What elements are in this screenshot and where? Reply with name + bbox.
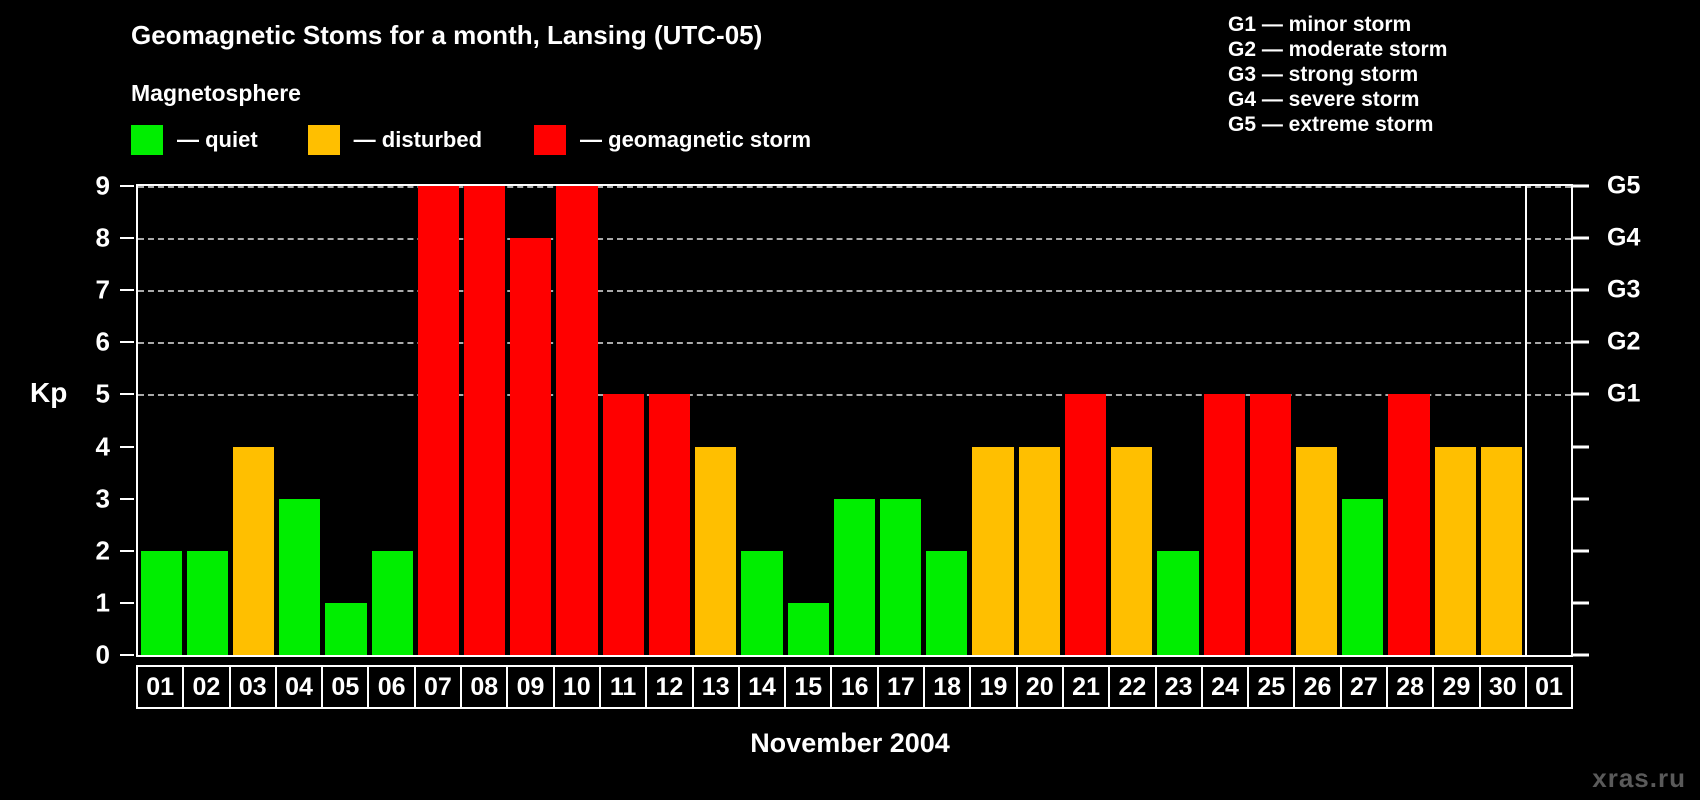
bar[interactable] bbox=[1111, 447, 1152, 655]
bar[interactable] bbox=[926, 551, 967, 655]
y-tick-label-8: 8 bbox=[96, 223, 110, 254]
day-label-30[interactable]: 30 bbox=[1479, 665, 1527, 709]
bar-slot-day-23[interactable] bbox=[1155, 186, 1201, 655]
legend-entry-disturbed: — disturbed bbox=[308, 125, 482, 155]
color-legend: — quiet— disturbed— geomagnetic storm bbox=[131, 125, 811, 155]
legend-swatch-quiet bbox=[131, 125, 163, 155]
legend-label-quiet: — quiet bbox=[177, 127, 258, 153]
bar-slot-day-14[interactable] bbox=[739, 186, 785, 655]
bar-slot-day-22[interactable] bbox=[1109, 186, 1155, 655]
y-tick-mark-7 bbox=[120, 289, 134, 291]
g-tick-label-G3: G3 bbox=[1607, 276, 1640, 305]
bar[interactable] bbox=[1388, 394, 1429, 655]
day-label-27[interactable]: 27 bbox=[1340, 665, 1388, 709]
day-label-26[interactable]: 26 bbox=[1293, 665, 1341, 709]
y-tick-mark-0 bbox=[120, 654, 134, 656]
bar-slot-day-13[interactable] bbox=[693, 186, 739, 655]
bar[interactable] bbox=[1065, 394, 1106, 655]
y-tick-label-0: 0 bbox=[96, 640, 110, 671]
bar[interactable] bbox=[233, 447, 274, 655]
y-tick-label-2: 2 bbox=[96, 535, 110, 566]
bar-slot-day-25[interactable] bbox=[1247, 186, 1293, 655]
g-tick-label-G2: G2 bbox=[1607, 328, 1640, 357]
day-label-24[interactable]: 24 bbox=[1201, 665, 1249, 709]
bar-slot-day-04[interactable] bbox=[277, 186, 323, 655]
bar[interactable] bbox=[325, 603, 366, 655]
bar[interactable] bbox=[972, 447, 1013, 655]
bar-slot-day-26[interactable] bbox=[1293, 186, 1339, 655]
g-tick-mark-G2 bbox=[1573, 341, 1589, 344]
day-label-2[interactable]: 02 bbox=[182, 665, 230, 709]
y-tick-mark-5 bbox=[120, 393, 134, 395]
day-label-10[interactable]: 10 bbox=[553, 665, 601, 709]
legend-swatch-disturbed bbox=[308, 125, 340, 155]
g-tick-label-G1: G1 bbox=[1607, 380, 1640, 409]
bar[interactable] bbox=[603, 394, 644, 655]
g-minor-tick-3 bbox=[1573, 497, 1589, 500]
g-minor-tick-1 bbox=[1573, 601, 1589, 604]
bar[interactable] bbox=[834, 499, 875, 655]
day-label-25[interactable]: 25 bbox=[1247, 665, 1295, 709]
bar[interactable] bbox=[1157, 551, 1198, 655]
bar-slot-day-06[interactable] bbox=[369, 186, 415, 655]
bar-slot-day-03[interactable] bbox=[230, 186, 276, 655]
month-separator-line bbox=[1525, 186, 1527, 655]
bar[interactable] bbox=[741, 551, 782, 655]
y-axis-g-scale: G1G2G3G4G5 bbox=[1573, 184, 1700, 657]
bar[interactable] bbox=[418, 186, 459, 655]
bar-slot-day-11[interactable] bbox=[600, 186, 646, 655]
day-label-14[interactable]: 14 bbox=[738, 665, 786, 709]
bar-slot-day-30[interactable] bbox=[1478, 186, 1524, 655]
day-label-17[interactable]: 17 bbox=[877, 665, 925, 709]
g-tick-label-G4: G4 bbox=[1607, 224, 1640, 253]
day-label-31[interactable]: 01 bbox=[1525, 665, 1573, 709]
day-label-20[interactable]: 20 bbox=[1016, 665, 1064, 709]
g-tick-mark-G5 bbox=[1573, 185, 1589, 188]
g-minor-tick-4 bbox=[1573, 445, 1589, 448]
day-label-11[interactable]: 11 bbox=[599, 665, 647, 709]
g-scale-line-5: G5 — extreme storm bbox=[1228, 112, 1447, 137]
bar[interactable] bbox=[1019, 447, 1060, 655]
page-title: Geomagnetic Stoms for a month, Lansing (… bbox=[131, 20, 762, 51]
g-tick-mark-G4 bbox=[1573, 237, 1589, 240]
day-label-8[interactable]: 08 bbox=[460, 665, 508, 709]
bar[interactable] bbox=[141, 551, 182, 655]
bar[interactable] bbox=[1296, 447, 1337, 655]
y-tick-mark-6 bbox=[120, 341, 134, 343]
day-label-13[interactable]: 13 bbox=[692, 665, 740, 709]
bar-slot-day-10[interactable] bbox=[554, 186, 600, 655]
bar-slot-day-24[interactable] bbox=[1201, 186, 1247, 655]
bar[interactable] bbox=[1342, 499, 1383, 655]
g-scale-legend: G1 — minor stormG2 — moderate stormG3 — … bbox=[1228, 12, 1447, 137]
bar-slot-day-01[interactable] bbox=[1525, 186, 1571, 655]
day-label-16[interactable]: 16 bbox=[830, 665, 878, 709]
y-tick-label-1: 1 bbox=[96, 587, 110, 618]
bar[interactable] bbox=[788, 603, 829, 655]
bar-slot-day-20[interactable] bbox=[1016, 186, 1062, 655]
bar[interactable] bbox=[880, 499, 921, 655]
bar-slot-day-29[interactable] bbox=[1432, 186, 1478, 655]
day-label-21[interactable]: 21 bbox=[1062, 665, 1110, 709]
bar-slot-day-05[interactable] bbox=[323, 186, 369, 655]
x-axis-day-labels: 0102030405060708091011121314151617181920… bbox=[136, 665, 1573, 709]
legend-entry-geomagnetic-storm: — geomagnetic storm bbox=[534, 125, 811, 155]
bar[interactable] bbox=[1435, 447, 1476, 655]
bar[interactable] bbox=[464, 186, 505, 655]
bars-layer bbox=[138, 186, 1571, 655]
bar[interactable] bbox=[556, 186, 597, 655]
bar[interactable] bbox=[510, 238, 551, 655]
day-label-4[interactable]: 04 bbox=[275, 665, 323, 709]
bar-slot-day-02[interactable] bbox=[184, 186, 230, 655]
y-tick-mark-1 bbox=[120, 602, 134, 604]
y-tick-label-4: 4 bbox=[96, 431, 110, 462]
y-tick-label-9: 9 bbox=[96, 171, 110, 202]
g-minor-tick-2 bbox=[1573, 549, 1589, 552]
y-axis-kp: 0123456789 bbox=[0, 184, 136, 657]
bar-slot-day-28[interactable] bbox=[1386, 186, 1432, 655]
y-tick-mark-3 bbox=[120, 498, 134, 500]
legend-swatch-geomagnetic-storm bbox=[534, 125, 566, 155]
day-label-18[interactable]: 18 bbox=[923, 665, 971, 709]
g-tick-mark-G3 bbox=[1573, 289, 1589, 292]
y-tick-mark-2 bbox=[120, 550, 134, 552]
bar-slot-day-19[interactable] bbox=[970, 186, 1016, 655]
bar-slot-day-12[interactable] bbox=[646, 186, 692, 655]
bar[interactable] bbox=[695, 447, 736, 655]
bar[interactable] bbox=[279, 499, 320, 655]
bar[interactable] bbox=[649, 394, 690, 655]
legend-entry-quiet: — quiet bbox=[131, 125, 258, 155]
day-label-12[interactable]: 12 bbox=[645, 665, 693, 709]
day-label-19[interactable]: 19 bbox=[969, 665, 1017, 709]
bar[interactable] bbox=[1481, 447, 1522, 655]
g-scale-line-1: G1 — minor storm bbox=[1228, 12, 1447, 37]
g-tick-label-G5: G5 bbox=[1607, 172, 1640, 201]
bar-slot-day-08[interactable] bbox=[462, 186, 508, 655]
magnetosphere-label: Magnetosphere bbox=[131, 80, 301, 107]
bar[interactable] bbox=[1250, 394, 1291, 655]
bar-slot-day-27[interactable] bbox=[1340, 186, 1386, 655]
g-tick-mark-G1 bbox=[1573, 393, 1589, 396]
plot-area bbox=[136, 184, 1573, 657]
bar[interactable] bbox=[1204, 394, 1245, 655]
watermark: xras.ru bbox=[1592, 763, 1686, 794]
bar-slot-day-15[interactable] bbox=[785, 186, 831, 655]
bar-slot-day-07[interactable] bbox=[415, 186, 461, 655]
g-minor-tick-0 bbox=[1573, 654, 1589, 657]
day-label-5[interactable]: 05 bbox=[321, 665, 369, 709]
day-label-9[interactable]: 09 bbox=[506, 665, 554, 709]
y-tick-label-7: 7 bbox=[96, 275, 110, 306]
y-tick-mark-9 bbox=[120, 185, 134, 187]
g-scale-line-2: G2 — moderate storm bbox=[1228, 37, 1447, 62]
y-tick-label-3: 3 bbox=[96, 483, 110, 514]
legend-label-disturbed: — disturbed bbox=[354, 127, 482, 153]
bar-slot-day-16[interactable] bbox=[831, 186, 877, 655]
g-scale-line-3: G3 — strong storm bbox=[1228, 62, 1447, 87]
y-tick-label-6: 6 bbox=[96, 327, 110, 358]
bar-slot-day-01[interactable] bbox=[138, 186, 184, 655]
g-scale-line-4: G4 — severe storm bbox=[1228, 87, 1447, 112]
bar-slot-day-21[interactable] bbox=[1062, 186, 1108, 655]
bar[interactable] bbox=[187, 551, 228, 655]
day-label-7[interactable]: 07 bbox=[414, 665, 462, 709]
day-label-3[interactable]: 03 bbox=[229, 665, 277, 709]
bar-slot-day-09[interactable] bbox=[508, 186, 554, 655]
y-tick-mark-8 bbox=[120, 237, 134, 239]
day-label-23[interactable]: 23 bbox=[1155, 665, 1203, 709]
day-label-15[interactable]: 15 bbox=[784, 665, 832, 709]
plot-inner bbox=[138, 186, 1571, 655]
bar-slot-day-17[interactable] bbox=[878, 186, 924, 655]
day-label-1[interactable]: 01 bbox=[136, 665, 184, 709]
x-axis-title: November 2004 bbox=[0, 728, 1700, 759]
day-label-28[interactable]: 28 bbox=[1386, 665, 1434, 709]
day-label-29[interactable]: 29 bbox=[1432, 665, 1480, 709]
legend-label-geomagnetic-storm: — geomagnetic storm bbox=[580, 127, 811, 153]
day-label-22[interactable]: 22 bbox=[1108, 665, 1156, 709]
y-tick-mark-4 bbox=[120, 446, 134, 448]
y-axis-title: Kp bbox=[30, 377, 67, 409]
y-tick-label-5: 5 bbox=[96, 379, 110, 410]
bar[interactable] bbox=[372, 551, 413, 655]
bar-slot-day-18[interactable] bbox=[924, 186, 970, 655]
day-label-6[interactable]: 06 bbox=[367, 665, 415, 709]
